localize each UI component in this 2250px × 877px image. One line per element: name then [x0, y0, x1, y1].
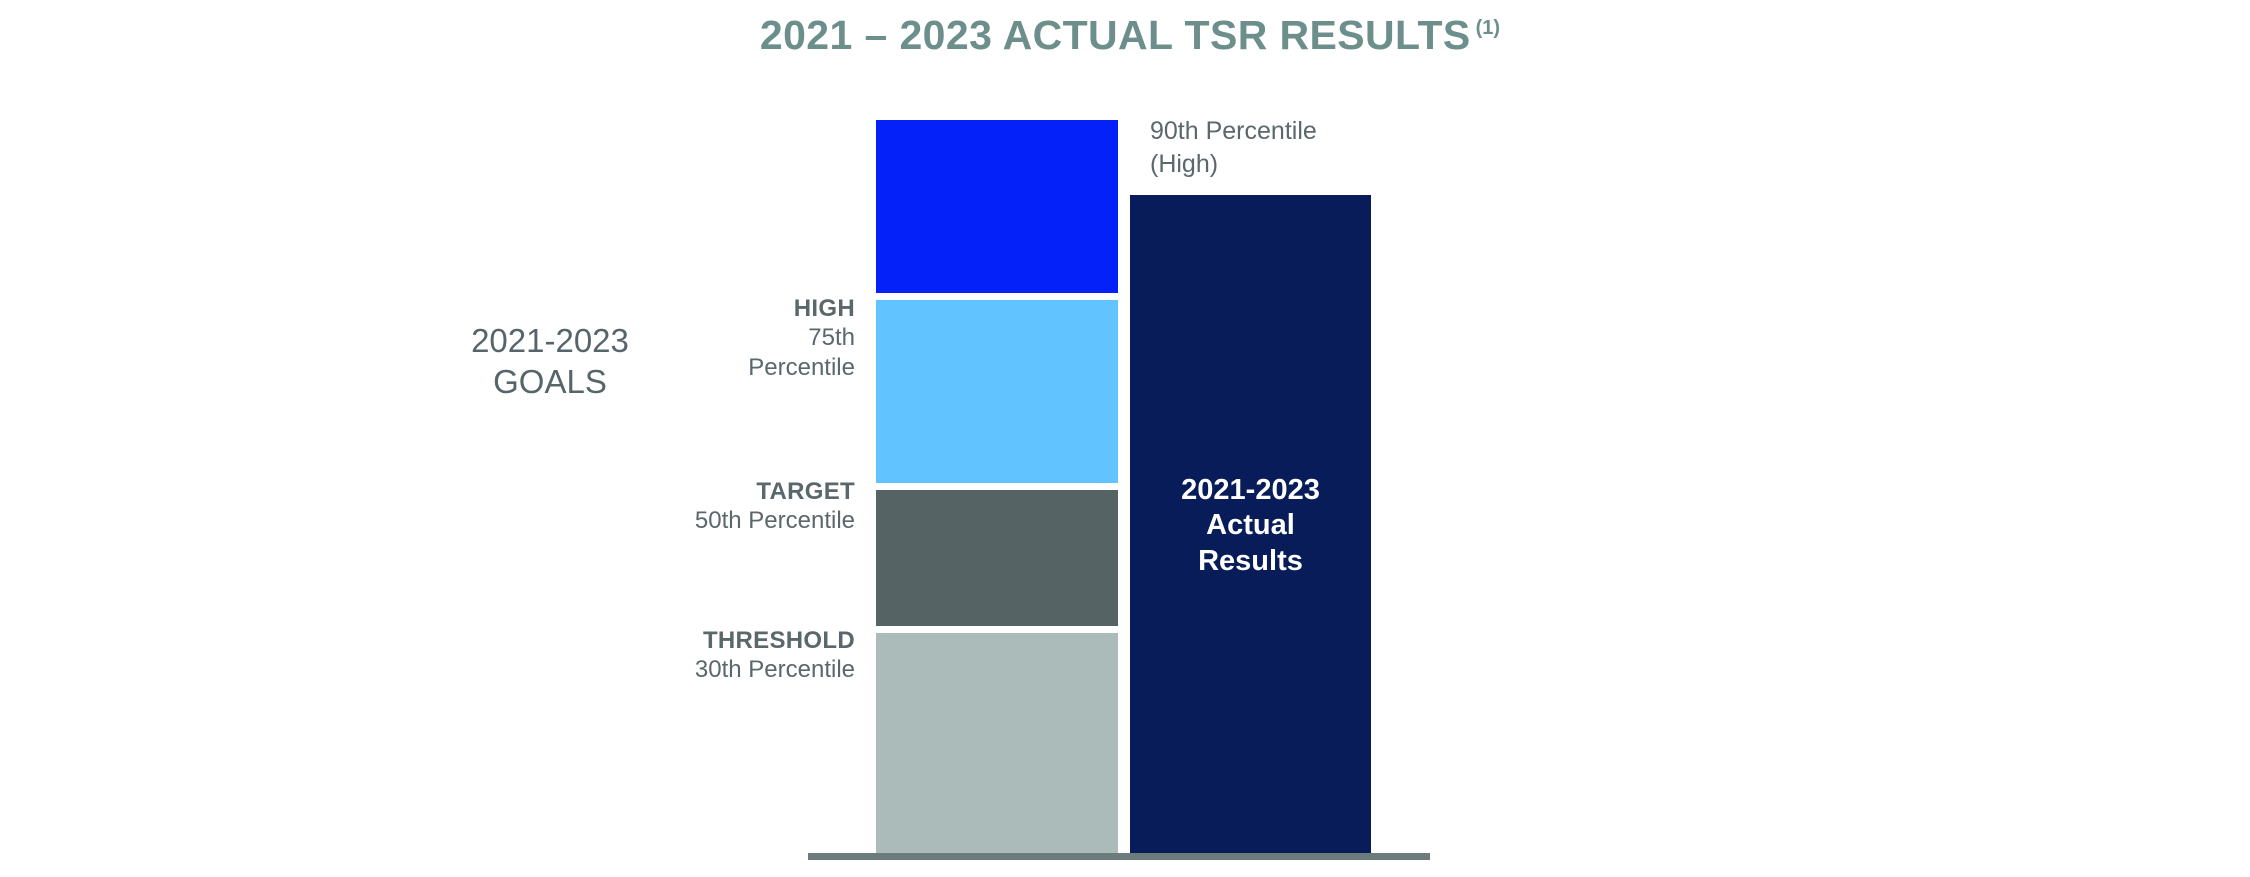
high-percentile-annotation-line1: 90th Percentile — [1150, 115, 1317, 148]
bar-segment-target — [876, 490, 1118, 626]
tier-label-target: TARGET 50th Percentile — [695, 477, 855, 536]
high-percentile-annotation: 90th Percentile (High) — [1150, 115, 1317, 180]
bar-segment-threshold — [876, 633, 1118, 857]
tier-label-high: HIGH 75th Percentile — [748, 294, 855, 382]
actual-results-label: 2021-2023 Actual Results — [1130, 473, 1371, 579]
tsr-results-chart: 2021 – 2023 ACTUAL TSR RESULTS(1) 2021-2… — [0, 0, 2250, 877]
goals-group-label-line1: 2021-2023 — [420, 320, 680, 361]
actual-results-label-line1: 2021-2023 — [1130, 473, 1371, 508]
actual-results-label-line3: Results — [1130, 544, 1371, 579]
plot-area: 2021-2023 GOALS HIGH 75th Percentile TAR… — [0, 0, 2250, 877]
tier-name-threshold: THRESHOLD — [695, 626, 855, 655]
tier-percentile-high: 75th — [748, 323, 855, 352]
bar-segment-above-high — [876, 120, 1118, 293]
goals-stacked-bar — [876, 120, 1118, 857]
goals-group-label-line2: GOALS — [420, 361, 680, 402]
bar-segment-high — [876, 300, 1118, 483]
tier-percentile-high-line2: Percentile — [748, 353, 855, 382]
tier-label-threshold: THRESHOLD 30th Percentile — [695, 626, 855, 685]
axis-baseline — [808, 853, 1430, 860]
tier-name-target: TARGET — [695, 477, 855, 506]
actual-results-label-line2: Actual — [1130, 508, 1371, 543]
tier-percentile-threshold: 30th Percentile — [695, 655, 855, 684]
tier-name-high: HIGH — [748, 294, 855, 323]
tier-percentile-target: 50th Percentile — [695, 506, 855, 535]
actual-results-bar: 2021-2023 Actual Results — [1130, 195, 1371, 857]
goals-group-label: 2021-2023 GOALS — [420, 320, 680, 403]
high-percentile-annotation-line2: (High) — [1150, 148, 1317, 181]
